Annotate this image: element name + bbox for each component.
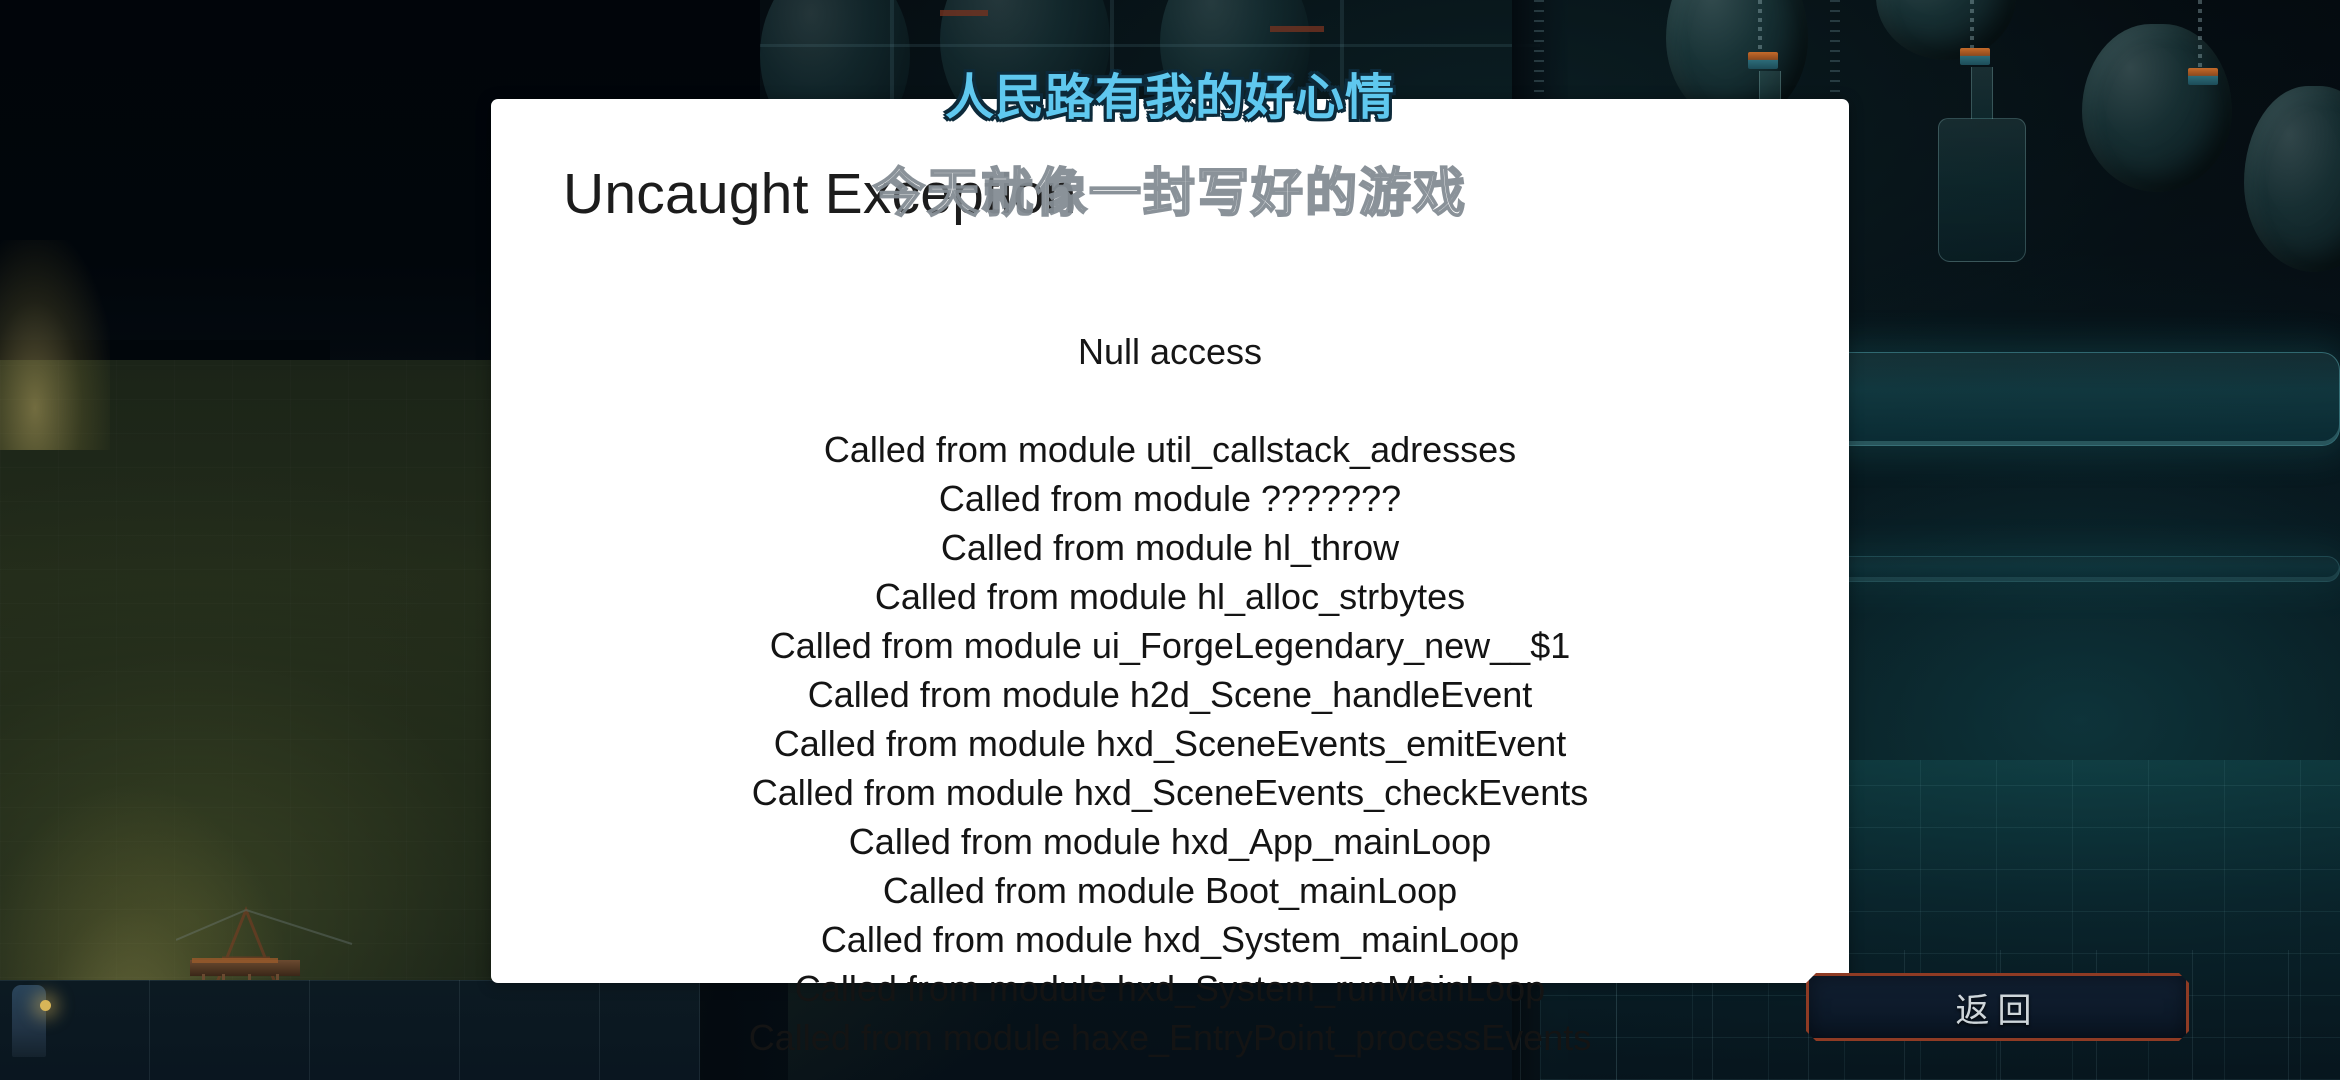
stack-trace-line: Called from module ???????	[491, 474, 1849, 523]
lamp-glow-icon	[40, 1000, 51, 1011]
stack-trace-line: Called from module hl_throw	[491, 523, 1849, 572]
stack-trace-line: Called from module hxd_System_runMainLoo…	[491, 964, 1849, 1013]
stack-trace-line: Called from module haxe_EntryPoint_proce…	[491, 1013, 1849, 1062]
game-screen: 人民路有我的好心情 今天就像一封写好的游戏 Uncaught Exception…	[0, 0, 2340, 1080]
back-button-label: 返回	[1956, 983, 2040, 1032]
dialog-title: Uncaught Exception	[563, 161, 1077, 227]
stack-trace-line: Called from module hxd_SceneEvents_check…	[491, 768, 1849, 817]
stack-trace-line: Called from module hxd_System_mainLoop	[491, 915, 1849, 964]
player-character	[12, 985, 46, 1057]
stack-trace-line: Called from module hl_alloc_strbytes	[491, 572, 1849, 621]
stack-trace-line: Called from module h2d_Scene_handleEvent	[491, 670, 1849, 719]
uncaught-exception-dialog: Uncaught Exception Null access Called fr…	[491, 99, 1849, 983]
dialog-message: Null access	[491, 331, 1849, 373]
stack-trace-line: Called from module hxd_SceneEvents_emitE…	[491, 719, 1849, 768]
stack-trace-line: Called from module ui_ForgeLegendary_new…	[491, 621, 1849, 670]
stack-trace-line: Called from module Boot_mainLoop	[491, 866, 1849, 915]
back-button[interactable]: 返回	[1806, 973, 2189, 1041]
dialog-stack-trace: Called from module util_callstack_adress…	[491, 425, 1849, 1062]
stack-trace-line: Called from module hxd_App_mainLoop	[491, 817, 1849, 866]
stack-trace-line: Called from module util_callstack_adress…	[491, 425, 1849, 474]
